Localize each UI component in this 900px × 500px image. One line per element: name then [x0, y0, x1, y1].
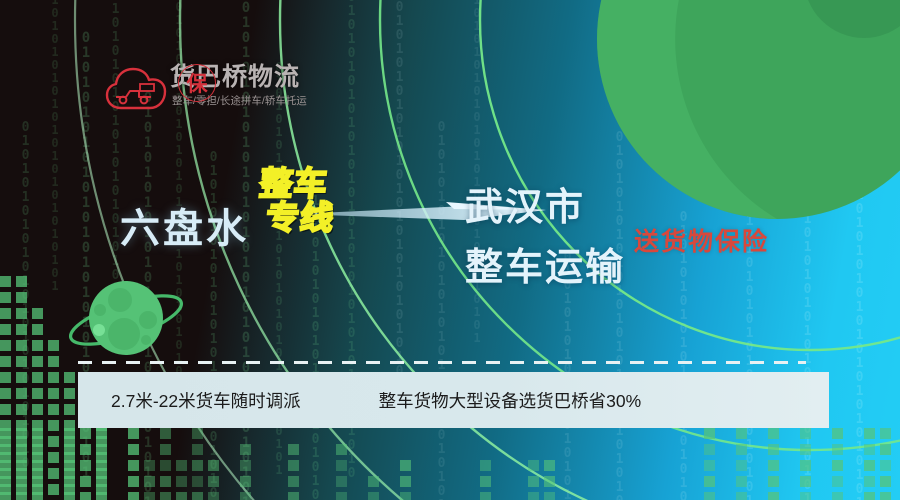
pixel-cell	[736, 444, 747, 455]
pixel-cell	[800, 460, 811, 471]
binary-column: 01010101010101010101010101010101010101	[238, 0, 254, 350]
pixel-cell	[528, 476, 539, 487]
pixel-cell	[240, 444, 251, 455]
pixel-cell	[32, 476, 43, 487]
pixel-cell	[96, 444, 107, 455]
pixel-cell	[160, 460, 171, 471]
pixel-cell	[0, 292, 11, 303]
pixel-cell	[16, 460, 27, 471]
pixel-cell	[288, 444, 299, 455]
pixel-cell	[16, 356, 27, 367]
pixel-cell	[336, 492, 347, 500]
pixel-cell	[864, 444, 875, 455]
pixel-cell	[208, 476, 219, 487]
pixel-cell	[704, 444, 715, 455]
pixel-cell	[32, 356, 43, 367]
pixel-cell	[16, 372, 27, 383]
pixel-cell	[544, 476, 555, 487]
pixel-cell	[880, 492, 891, 500]
pixel-cell	[160, 476, 171, 487]
binary-column: 010101010101010101010101	[48, 0, 62, 190]
pixel-cell	[192, 460, 203, 471]
pixel-cell	[0, 460, 11, 471]
pixel-cell	[176, 460, 187, 471]
pixel-cell	[240, 460, 251, 471]
pixel-cell	[768, 428, 779, 439]
pixel-cell	[96, 476, 107, 487]
pixel-cell	[528, 492, 539, 500]
pixel-cell	[736, 492, 747, 500]
pixel-cell	[48, 404, 59, 415]
pixel-cell	[0, 324, 11, 335]
pixel-cell	[64, 460, 75, 471]
pixel-cell	[400, 476, 411, 487]
pixel-cell	[736, 428, 747, 439]
pixel-cell	[240, 492, 251, 500]
bottom-info-bar: 2.7米-22米货车随时调派 整车货物大型设备选货巴桥省30%	[78, 372, 829, 428]
destination-city: 武汉市	[465, 178, 625, 238]
pixel-cell	[0, 356, 11, 367]
pixel-cell	[32, 460, 43, 471]
pixel-cell	[288, 460, 299, 471]
pixel-cell	[704, 492, 715, 500]
pixel-cell	[96, 492, 107, 500]
pixel-cell	[544, 460, 555, 471]
pixel-cell	[704, 428, 715, 439]
pixel-cell	[0, 404, 11, 415]
route-tag-line2: 专线	[264, 201, 336, 235]
pixel-grid-bottom	[0, 428, 900, 500]
pixel-cell	[480, 476, 491, 487]
pixel-cell	[0, 372, 11, 383]
pixel-cell	[880, 460, 891, 471]
pixel-cell	[288, 492, 299, 500]
logistics-ad-banner: 0101010101010101010101010010101010101010…	[0, 0, 900, 500]
pixel-cell	[16, 444, 27, 455]
route-tag: 整车 专线	[254, 167, 339, 235]
pixel-cell	[64, 476, 75, 487]
pixel-cell	[160, 444, 171, 455]
pixel-cell	[32, 372, 43, 383]
pixel-cell	[32, 324, 43, 335]
pixel-cell	[768, 460, 779, 471]
pixel-cell	[336, 460, 347, 471]
pixel-cell	[16, 476, 27, 487]
pixel-cell	[368, 476, 379, 487]
pixel-cell	[288, 476, 299, 487]
pixel-cell	[480, 492, 491, 500]
pixel-cell	[144, 476, 155, 487]
pixel-cell	[80, 476, 91, 487]
pixel-cell	[768, 444, 779, 455]
green-planet-icon	[596, 0, 900, 220]
pixel-cell	[128, 428, 139, 439]
pixel-cell	[240, 476, 251, 487]
origin-city: 六盘水	[120, 196, 249, 254]
pixel-cell	[48, 340, 59, 351]
pixel-cell	[800, 492, 811, 500]
pixel-cell	[832, 492, 843, 500]
pixel-cell	[16, 308, 27, 319]
pixel-cell	[96, 428, 107, 439]
destination-block: 武汉市 整车运输	[465, 178, 625, 298]
pixel-cell	[864, 476, 875, 487]
pixel-cell	[864, 428, 875, 439]
dashed-divider	[78, 361, 806, 364]
pixel-cell	[32, 444, 43, 455]
pixel-cell	[864, 492, 875, 500]
pixel-cell	[400, 460, 411, 471]
pixel-cell	[704, 460, 715, 471]
pixel-cell	[80, 444, 91, 455]
pixel-cell	[368, 492, 379, 500]
pixel-cell	[80, 492, 91, 500]
pixel-cell	[0, 428, 11, 439]
insurance-badge: 保	[178, 64, 216, 102]
pixel-cell	[16, 340, 27, 351]
insurance-note: 送货物保险	[634, 222, 769, 258]
pixel-cell	[544, 492, 555, 500]
pixel-cell	[80, 460, 91, 471]
pixel-cell	[736, 460, 747, 471]
pixel-cell	[336, 444, 347, 455]
destination-service: 整车运输	[465, 238, 625, 298]
pixel-cell	[16, 492, 27, 500]
pixel-cell	[208, 460, 219, 471]
pixel-cell	[176, 476, 187, 487]
pixel-cell	[208, 492, 219, 500]
pixel-cell	[864, 460, 875, 471]
pixel-cell	[48, 372, 59, 383]
pixel-cell	[16, 292, 27, 303]
pixel-cell	[48, 388, 59, 399]
pixel-cell	[704, 476, 715, 487]
pixel-cell	[176, 492, 187, 500]
pixel-cell	[880, 428, 891, 439]
pixel-cell	[480, 460, 491, 471]
pixel-cell	[64, 444, 75, 455]
pixel-cell	[0, 492, 11, 500]
truck-in-cloud-icon	[104, 64, 168, 112]
pixel-cell	[32, 388, 43, 399]
pixel-cell	[48, 356, 59, 367]
pixel-cell	[0, 388, 11, 399]
pixel-cell	[144, 460, 155, 471]
pixel-cell	[192, 492, 203, 500]
pixel-cell	[192, 444, 203, 455]
pixel-cell	[64, 404, 75, 415]
pixel-cell	[96, 460, 107, 471]
pixel-cell	[32, 308, 43, 319]
pixel-cell	[832, 428, 843, 439]
pixel-cell	[880, 476, 891, 487]
bottom-bar-right-text: 整车货物大型设备选货巴桥省30%	[379, 388, 642, 413]
bottom-bar-left-text: 2.7米-22米货车随时调派	[111, 388, 301, 413]
pixel-cell	[800, 428, 811, 439]
pixel-cell	[768, 492, 779, 500]
pixel-cell	[128, 444, 139, 455]
pixel-cell	[528, 460, 539, 471]
pixel-cell	[64, 428, 75, 439]
pixel-cell	[0, 340, 11, 351]
pixel-cell	[16, 324, 27, 335]
pixel-cell	[128, 492, 139, 500]
pixel-cell	[128, 460, 139, 471]
pixel-cell	[160, 492, 171, 500]
pixel-cell	[16, 388, 27, 399]
pixel-cell	[32, 340, 43, 351]
pixel-cell	[32, 404, 43, 415]
pixel-cell	[0, 308, 11, 319]
pixel-cell	[32, 492, 43, 500]
pixel-cell	[736, 476, 747, 487]
pixel-cell	[64, 388, 75, 399]
pixel-cell	[832, 444, 843, 455]
pixel-cell	[0, 276, 11, 287]
pixel-cell	[832, 476, 843, 487]
pixel-cell	[64, 492, 75, 500]
pixel-cell	[0, 476, 11, 487]
route-tag-line1: 整车	[258, 165, 330, 202]
pixel-cell	[16, 428, 27, 439]
pixel-cell	[192, 476, 203, 487]
pixel-cell	[0, 444, 11, 455]
pixel-cell	[16, 404, 27, 415]
pixel-cell	[32, 428, 43, 439]
pixel-cell	[128, 476, 139, 487]
pixel-cell	[192, 428, 203, 439]
pixel-cell	[160, 428, 171, 439]
pixel-cell	[144, 492, 155, 500]
pixel-cell	[400, 492, 411, 500]
pixel-cell	[880, 444, 891, 455]
pixel-cell	[800, 476, 811, 487]
pixel-cell	[16, 276, 27, 287]
pixel-cell	[800, 444, 811, 455]
pixel-cell	[80, 428, 91, 439]
pixel-cell	[64, 372, 75, 383]
pixel-cell	[768, 476, 779, 487]
pixel-cell	[832, 460, 843, 471]
pixel-cell	[336, 476, 347, 487]
binary-column: 01010101010101010101010101010101010	[344, 0, 359, 320]
